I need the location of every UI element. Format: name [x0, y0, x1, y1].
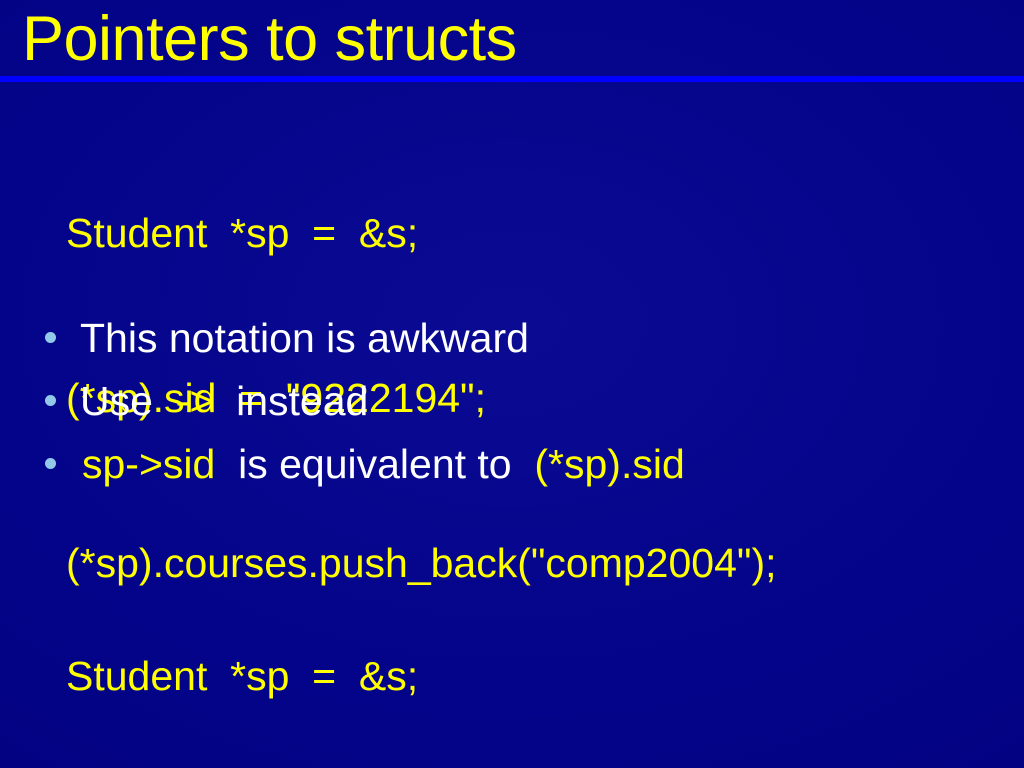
list-item: sp->sid is equivalent to (*sp).sid	[0, 432, 1024, 495]
code-snippet-highlight: sp->sid	[82, 441, 215, 487]
code-line: Student *sp = &s;	[66, 206, 777, 261]
list-item: Use -> instead	[0, 369, 1024, 432]
list-item-segment: is equivalent to	[215, 441, 534, 487]
bullet-dot-icon	[45, 395, 56, 406]
arrow-operator-highlight: ->	[176, 378, 214, 424]
list-item-segment: Use	[80, 378, 176, 424]
list-item-segment: This notation is awkward	[80, 315, 529, 361]
bullet-dot-icon	[45, 332, 56, 343]
list-item-segment: instead	[213, 378, 368, 424]
list-item: This notation is awkward	[0, 306, 1024, 369]
code-line: Student *sp = &s;	[66, 648, 759, 705]
list-item-label: sp->sid is equivalent to (*sp).sid	[82, 441, 685, 487]
bullet-dot-icon	[45, 458, 56, 469]
title-divider	[0, 76, 1024, 82]
code-snippet-highlight: (*sp).sid	[534, 441, 684, 487]
page-title: Pointers to structs	[22, 4, 1002, 74]
list-item-label: This notation is awkward	[80, 315, 529, 361]
bullet-list: This notation is awkward Use -> instead …	[0, 306, 1024, 495]
slide: Pointers to structs Student *sp = &s; (*…	[0, 0, 1024, 768]
list-item-label: Use -> instead	[80, 378, 368, 424]
code-block-arrow-notation: Student *sp = &s; sp->sid = "9222194"; s…	[66, 534, 759, 768]
